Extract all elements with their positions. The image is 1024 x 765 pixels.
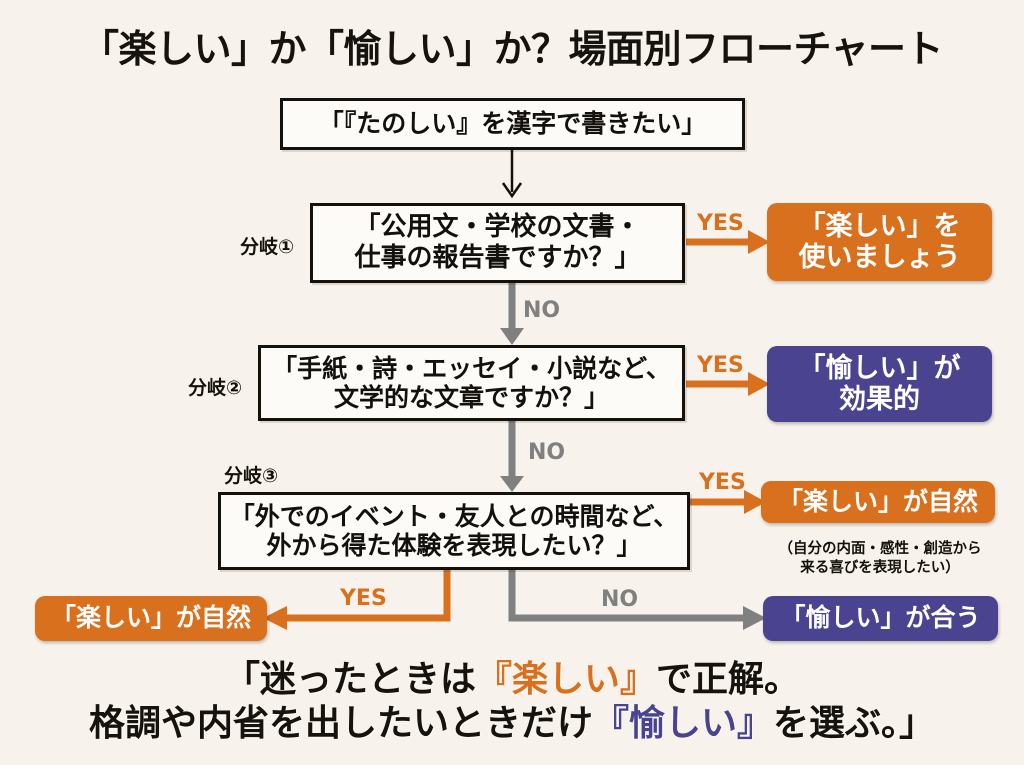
summary-line-1-pre: 「迷ったときは [224, 659, 476, 700]
result-pill-bottom-left: 「楽しい」が自然 [35, 596, 267, 641]
edge-label-yes-3: YES [699, 470, 746, 495]
edge-label-yes-2: YES [697, 353, 744, 378]
edge-label-no-2: NO [528, 440, 565, 465]
question-3-line-2: 外から得た体験を表現したい？」 [266, 531, 641, 560]
result-1-line-2: 使いましょう [799, 242, 961, 273]
question-3-line-1: 「外でのイベント・友人との時間など、 [230, 502, 679, 531]
question-1-line-1: 「公用文・学校の文書・ [354, 212, 640, 242]
edge-q3-no-bottom-right [512, 570, 766, 630]
question-box-3-text: 「外でのイベント・友人との時間など、 外から得た体験を表現したい？」 [230, 502, 679, 561]
summary-line-2: 格調や内省を出したいときだけ『愉しい』を選ぶ。」 [0, 702, 1024, 746]
question-box-1-text: 「公用文・学校の文書・ 仕事の報告書ですか？」 [354, 212, 640, 273]
branch-label-2: 分岐② [188, 373, 242, 400]
branch-label-1: 分岐① [240, 232, 294, 259]
edge-q2-no [500, 421, 524, 492]
note-line-2: 来る喜びを表現したい） [800, 560, 960, 576]
result-pill-2: 「愉しい」が 効果的 [767, 346, 992, 422]
result-1-line-1: 「楽しい」を [799, 211, 961, 242]
result-pill-1: 「楽しい」を 使いましょう [767, 203, 992, 281]
start-box-text: 「『たのしい』を漢字で書きたい」 [319, 109, 707, 139]
summary-line-1-post: で正解。 [656, 659, 800, 700]
branch-label-3: 分岐③ [224, 461, 278, 488]
page-title: 「楽しい」か「愉しい」か？場面別フローチャート [0, 18, 1024, 73]
question-2-line-2: 文学的な文章ですか？」 [334, 383, 609, 412]
summary-line-2-highlight: 『愉しい』 [593, 703, 773, 744]
edge-label-no-bottom: NO [601, 587, 638, 612]
edge-label-no-1: NO [523, 298, 560, 323]
start-box: 「『たのしい』を漢字で書きたい」 [280, 98, 745, 150]
inner-feeling-note: （自分の内面・感性・創造から 来る喜びを表現したい） [755, 540, 1005, 578]
result-2-line-2: 効果的 [839, 384, 920, 415]
question-1-line-2: 仕事の報告書ですか？」 [354, 243, 640, 273]
note-line-1: （自分の内面・感性・創造から [779, 541, 982, 557]
result-2-line-1: 「愉しい」が [799, 353, 961, 384]
summary-line-1-highlight: 『楽しい』 [476, 659, 656, 700]
flowchart-canvas: 「楽しい」か「愉しい」か？場面別フローチャート 「『たのしい』を漢字で書きたい」… [0, 0, 1024, 765]
question-box-2-text: 「手紙・詩・エッセイ・小説など、 文学的な文章ですか？」 [272, 354, 671, 413]
result-pill-bottom-right: 「愉しい」が合う [763, 596, 998, 641]
result-pill-3: 「楽しい」が自然 [761, 481, 995, 523]
summary-line-2-post: を選ぶ。」 [773, 703, 935, 744]
question-2-line-1: 「手紙・詩・エッセイ・小説など、 [272, 354, 671, 383]
edge-start-to-q1 [503, 150, 521, 196]
edge-label-yes-1: YES [697, 211, 744, 236]
question-box-3: 「外でのイベント・友人との時間など、 外から得た体験を表現したい？」 [218, 492, 690, 570]
edge-label-yes-bottom: YES [340, 586, 387, 611]
summary-line-2-pre: 格調や内省を出したいときだけ [89, 703, 593, 744]
summary-line-1: 「迷ったときは『楽しい』で正解。 [0, 658, 1024, 702]
question-box-1: 「公用文・学校の文書・ 仕事の報告書ですか？」 [310, 203, 685, 283]
question-box-2: 「手紙・詩・エッセイ・小説など、 文学的な文章ですか？」 [258, 345, 685, 421]
result-pill-1-text: 「楽しい」を 使いましょう [799, 211, 961, 273]
summary-text: 「迷ったときは『楽しい』で正解。 格調や内省を出したいときだけ『愉しい』を選ぶ。… [0, 658, 1024, 746]
edge-q1-no [500, 283, 524, 345]
result-pill-2-text: 「愉しい」が 効果的 [799, 353, 961, 415]
